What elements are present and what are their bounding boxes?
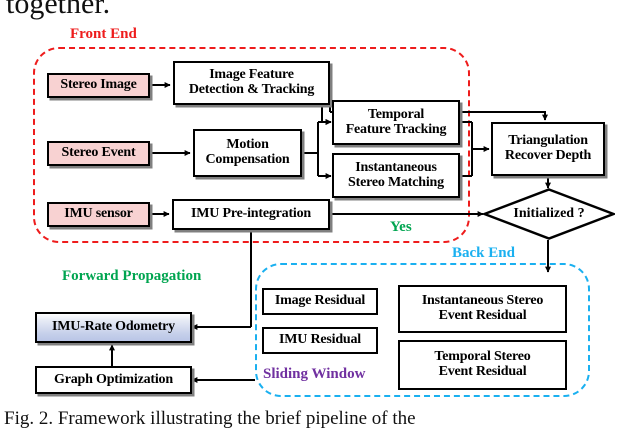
node-inst-stereo-residual-line2: Event Residual [439, 309, 527, 324]
node-stereo-event[interactable]: Stereo Event [47, 141, 150, 166]
node-imu-pre-integration[interactable]: IMU Pre-integration [172, 199, 330, 230]
node-instantaneous-stereo-matching-line2: Stereo Matching [348, 176, 444, 191]
node-graph-optimization[interactable]: Graph Optimization [35, 366, 192, 394]
node-temporal-feature-tracking-line2: Feature Tracking [346, 123, 447, 138]
front-end-label: Front End [70, 26, 137, 43]
node-temporal-stereo-residual-line1: Temporal Stereo [434, 350, 530, 365]
node-initialized-decision[interactable]: Initialized ? [483, 188, 615, 240]
node-image-residual-label: Image Residual [275, 294, 365, 309]
node-stereo-image-label: Stereo Image [60, 78, 136, 93]
node-imu-sensor-label: IMU sensor [64, 207, 132, 222]
node-imu-residual-label: IMU Residual [279, 333, 361, 348]
node-triangulation-line1: Triangulation [508, 134, 588, 149]
yes-label: Yes [390, 219, 412, 236]
page-text-above: together. [6, 0, 110, 21]
node-temporal-feature-tracking-line1: Temporal [368, 108, 424, 123]
node-imu-residual[interactable]: IMU Residual [262, 327, 378, 354]
node-stereo-image[interactable]: Stereo Image [47, 73, 150, 98]
node-temporal-feature-tracking[interactable]: Temporal Feature Tracking [332, 100, 460, 145]
node-motion-compensation[interactable]: Motion Compensation [193, 129, 302, 177]
node-initialized-label: Initialized ? [513, 206, 584, 222]
node-inst-stereo-residual-line1: Instantaneous Stereo [422, 294, 543, 309]
back-end-label: Back End [452, 245, 515, 262]
node-imu-sensor[interactable]: IMU sensor [47, 202, 150, 227]
node-image-feature-line1: Image Feature [209, 68, 294, 83]
figure-canvas: together. Front End Back End Yes Forward… [0, 0, 640, 435]
node-motion-compensation-line2: Compensation [206, 153, 290, 168]
sliding-window-label: Sliding Window [263, 366, 365, 383]
forward-propagation-label: Forward Propagation [62, 268, 201, 285]
node-imu-rate-odometry[interactable]: IMU-Rate Odometry [35, 312, 192, 343]
node-imu-rate-odometry-label: IMU-Rate Odometry [52, 320, 175, 335]
node-instantaneous-stereo-event-residual[interactable]: Instantaneous Stereo Event Residual [398, 285, 567, 333]
node-triangulation-recover-depth[interactable]: Triangulation Recover Depth [491, 122, 605, 176]
node-temporal-stereo-residual-line2: Event Residual [439, 365, 527, 380]
node-graph-optimization-label: Graph Optimization [54, 373, 173, 388]
node-motion-compensation-line1: Motion [226, 138, 268, 153]
figure-caption: Fig. 2. Framework illustrating the brief… [4, 408, 416, 430]
node-imu-pre-integration-label: IMU Pre-integration [191, 207, 311, 222]
node-instantaneous-stereo-matching-line1: Instantaneous [355, 161, 436, 176]
node-image-feature-line2: Detection & Tracking [189, 83, 314, 98]
node-instantaneous-stereo-matching[interactable]: Instantaneous Stereo Matching [332, 153, 460, 198]
node-image-feature-detection-tracking[interactable]: Image Feature Detection & Tracking [173, 61, 330, 105]
node-stereo-event-label: Stereo Event [62, 146, 136, 161]
node-image-residual[interactable]: Image Residual [262, 288, 378, 315]
node-temporal-stereo-event-residual[interactable]: Temporal Stereo Event Residual [398, 340, 567, 390]
node-triangulation-line2: Recover Depth [505, 149, 591, 164]
